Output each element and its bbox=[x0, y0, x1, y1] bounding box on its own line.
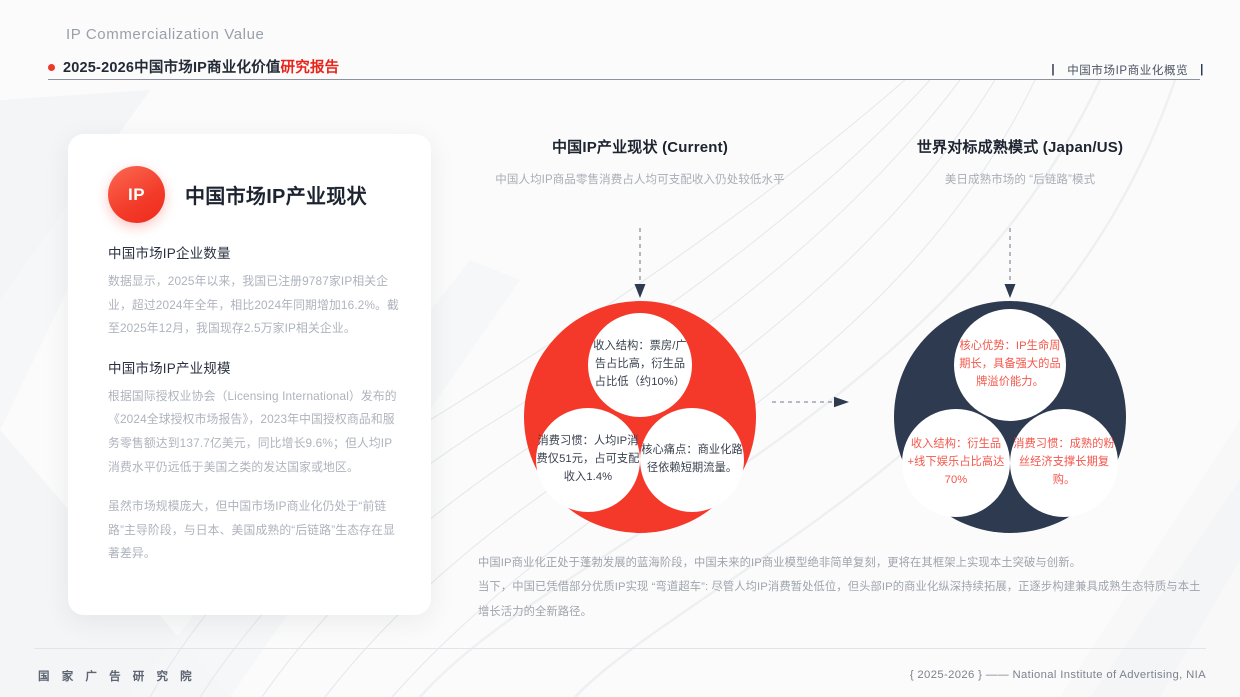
card-section-heading-2: 中国市场IP产业规模 bbox=[108, 357, 403, 377]
footer-divider bbox=[34, 648, 1206, 649]
bottom-note-line-1: 中国IP商业化正处于蓬勃发展的蓝海阶段，中国未来的IP商业模型绝非简单复刻，更将… bbox=[478, 551, 1208, 575]
page-title-main: 2025-2026中国市场IP商业化价值 bbox=[63, 60, 281, 76]
header-title-row: 2025-2026中国市场IP商业化价值研究报告 bbox=[48, 56, 339, 77]
card-section-paragraph-1: 数据显示，2025年以来，我国已注册9787家IP相关企业，超过2024年全年，… bbox=[108, 270, 403, 341]
venn-current: 收入结构：票房/广告占比高，衍生品占比低（约10%） 消费习惯：人均IP消费仅5… bbox=[524, 301, 756, 533]
down-arrow-mature-icon bbox=[1003, 228, 1017, 300]
column-mature: 世界对标成熟模式 (Japan/US) 美日成熟市场的 “后链路”模式 bbox=[835, 136, 1205, 191]
card-section-heading-1: 中国市场IP企业数量 bbox=[108, 242, 403, 262]
header-right-text: 中国市场IP商业化概览 bbox=[1067, 62, 1188, 78]
venn-current-lobe-bottom-left: 消费习惯：人均IP消费仅51元，占可支配收入1.4% bbox=[536, 408, 640, 512]
bottom-note-line-2: 当下，中国已凭借部分优质IP实现 “弯道超车”: 尽管人均IP消费暂处低位，但头… bbox=[478, 575, 1208, 624]
card-section-paragraph-3: 虽然市场规模庞大，但中国市场IP商业化仍处于“前链路”主导阶段，与日本、美国成熟… bbox=[108, 495, 403, 566]
column-current: 中国IP产业现状 (Current) 中国人均IP商品零售消费占人均可支配收入仍… bbox=[455, 136, 825, 191]
card-section-paragraph-2: 根据国际授权业协会（Licensing International）发布的《20… bbox=[108, 385, 403, 479]
bottom-note: 中国IP商业化正处于蓬勃发展的蓝海阶段，中国未来的IP商业模型绝非简单复刻，更将… bbox=[478, 551, 1208, 624]
footer-credit: { 2025-2026 } —— National Institute of A… bbox=[910, 669, 1206, 681]
bullet-dot-icon bbox=[48, 64, 55, 71]
page-title: 2025-2026中国市场IP商业化价值研究报告 bbox=[63, 56, 339, 77]
venn-mature: 核心优势：IP生命周期长，具备强大的品牌溢价能力。 收入结构：衍生品+线下娱乐占… bbox=[894, 301, 1126, 533]
card-title: 中国市场IP产业现状 bbox=[185, 180, 367, 209]
header-section-label: | 中国市场IP商业化概览 | bbox=[1051, 62, 1204, 78]
card-header: IP 中国市场IP产业现状 bbox=[108, 166, 367, 223]
venn-mature-lobe-top: 核心优势：IP生命周期长，具备强大的品牌溢价能力。 bbox=[954, 309, 1066, 421]
divider-bar-right-icon: | bbox=[1200, 64, 1204, 76]
venn-current-lobe-bl-text: 消费习惯：人均IP消费仅51元，占可支配收入1.4% bbox=[536, 433, 640, 486]
venn-mature-lobe-top-text: 核心优势：IP生命周期长，具备强大的品牌溢价能力。 bbox=[954, 338, 1066, 391]
header-kicker: IP Commercialization Value bbox=[66, 26, 264, 43]
card-body: 中国市场IP企业数量 数据显示，2025年以来，我国已注册9787家IP相关企业… bbox=[108, 242, 403, 566]
column-mature-title: 世界对标成熟模式 (Japan/US) bbox=[835, 136, 1205, 157]
divider-bar-left-icon: | bbox=[1051, 64, 1055, 76]
venn-current-lobe-top: 收入结构：票房/广告占比高，衍生品占比低（约10%） bbox=[588, 313, 692, 417]
page-header: IP Commercialization Value 2025-2026中国市场… bbox=[0, 0, 1240, 80]
venn-mature-lobe-bottom-right: 消费习惯：成熟的粉丝经济支撑长期复购。 bbox=[1010, 409, 1118, 517]
venn-current-lobe-top-text: 收入结构：票房/广告占比高，衍生品占比低（约10%） bbox=[588, 338, 692, 391]
page-title-highlight: 研究报告 bbox=[281, 60, 340, 76]
right-arrow-connector-icon bbox=[772, 396, 850, 408]
down-arrow-current-icon bbox=[633, 228, 647, 300]
footer-organization: 国 家 广 告 研 究 院 bbox=[38, 668, 196, 684]
ip-badge-icon: IP bbox=[108, 166, 165, 223]
header-divider bbox=[48, 79, 1200, 80]
venn-mature-lobe-bl-text: 收入结构：衍生品+线下娱乐占比高达70% bbox=[902, 436, 1010, 489]
ip-status-card: IP 中国市场IP产业现状 中国市场IP企业数量 数据显示，2025年以来，我国… bbox=[68, 134, 431, 615]
column-mature-subtitle: 美日成熟市场的 “后链路”模式 bbox=[835, 169, 1205, 191]
column-current-subtitle: 中国人均IP商品零售消费占人均可支配收入仍处较低水平 bbox=[455, 169, 825, 191]
venn-mature-lobe-br-text: 消费习惯：成熟的粉丝经济支撑长期复购。 bbox=[1010, 436, 1118, 489]
venn-mature-lobe-bottom-left: 收入结构：衍生品+线下娱乐占比高达70% bbox=[902, 409, 1010, 517]
venn-current-lobe-br-text: 核心痛点：商业化路径依赖短期流量。 bbox=[640, 442, 744, 477]
venn-current-lobe-bottom-right: 核心痛点：商业化路径依赖短期流量。 bbox=[640, 408, 744, 512]
column-current-title: 中国IP产业现状 (Current) bbox=[455, 136, 825, 157]
